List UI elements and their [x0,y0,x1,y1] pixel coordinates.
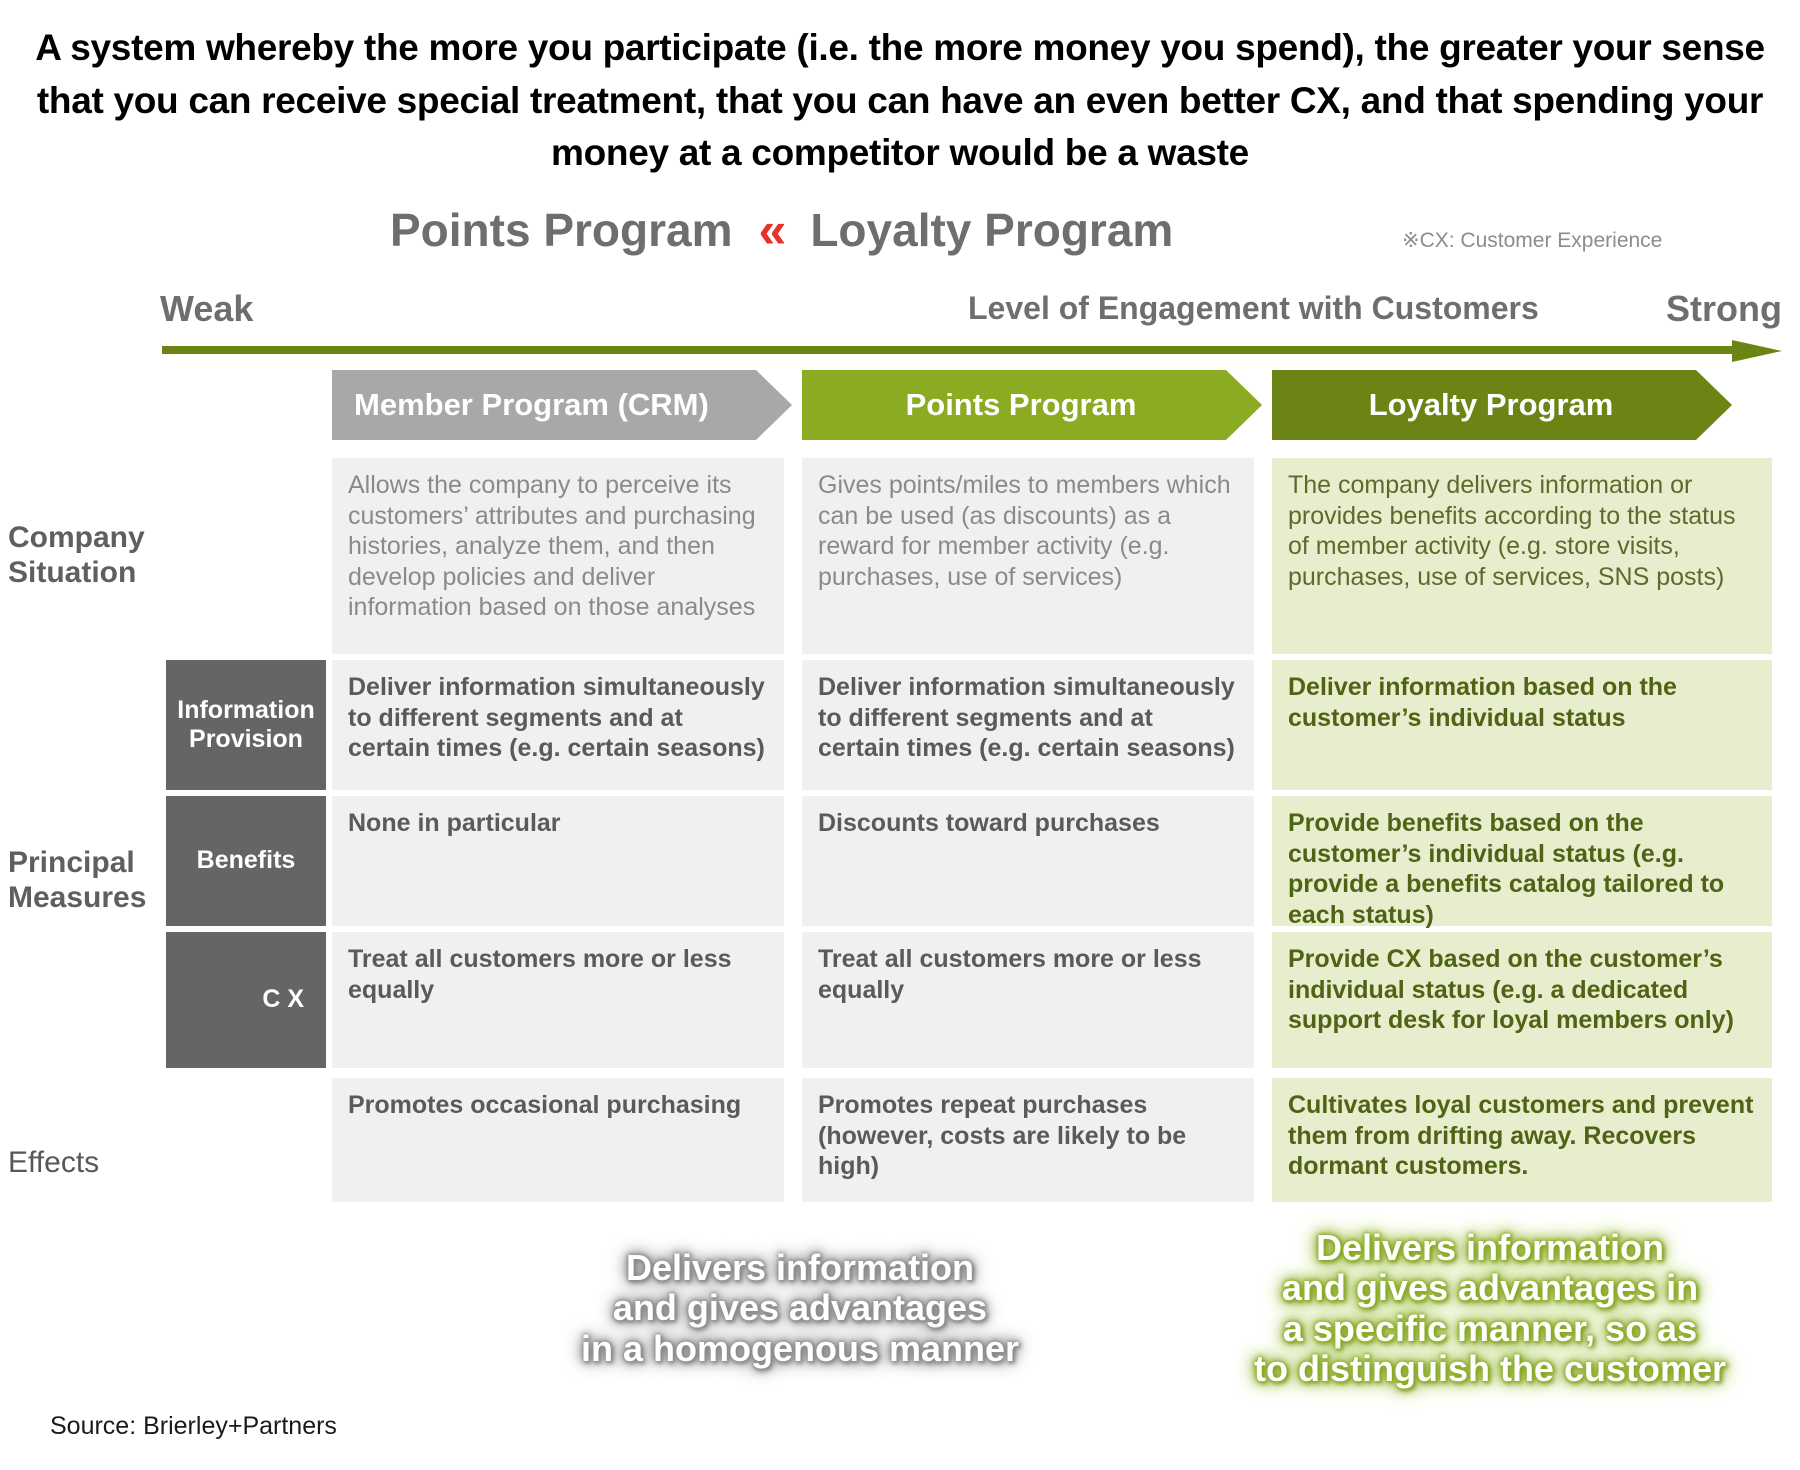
cell-company-situation-points: Gives points/miles to members which can … [802,458,1254,654]
callout-specific: Delivers information and gives advantage… [1180,1228,1800,1389]
cell-benefits-points: Discounts toward purchases [802,796,1254,926]
cell-company-situation-loyalty: The company delivers information or prov… [1272,458,1772,654]
cell-information-provision-crm: Deliver information simultaneously to di… [332,660,784,790]
cell-cx-crm: Treat all customers more or less equally [332,932,784,1068]
row-label-company-situation: Company Situation [8,520,198,591]
cell-information-provision-points: Deliver information simultaneously to di… [802,660,1254,790]
cell-benefits-crm: None in particular [332,796,784,926]
source-credit: Source: Brierley+Partners [50,1412,337,1441]
cell-effects-points: Promotes repeat purchases (however, cost… [802,1078,1254,1202]
sublabel-benefits: Benefits [166,796,326,926]
cell-effects-crm: Promotes occasional purchasing [332,1078,784,1202]
column-header-loyalty-label: Loyalty Program [1272,387,1732,423]
cell-information-provision-loyalty: Deliver information based on the custome… [1272,660,1772,790]
cell-benefits-loyalty: Provide benefits based on the customer’s… [1272,796,1772,926]
cell-cx-points: Treat all customers more or less equally [802,932,1254,1068]
column-header-loyalty[interactable]: Loyalty Program [1272,370,1732,440]
column-header-points-label: Points Program [802,387,1262,423]
sublabel-information-provision: Information Provision [166,660,326,790]
row-label-effects: Effects [8,1145,198,1180]
cell-cx-loyalty: Provide CX based on the customer’s indiv… [1272,932,1772,1068]
column-header-crm[interactable]: Member Program (CRM) [332,370,792,440]
sublabel-cx: C X [166,932,326,1068]
cell-company-situation-crm: Allows the company to perceive its custo… [332,458,784,654]
callout-homogenous: Delivers information and gives advantage… [470,1248,1130,1369]
column-header-crm-label: Member Program (CRM) [332,387,792,423]
column-header-points[interactable]: Points Program [802,370,1262,440]
cell-effects-loyalty: Cultivates loyal customers and prevent t… [1272,1078,1772,1202]
